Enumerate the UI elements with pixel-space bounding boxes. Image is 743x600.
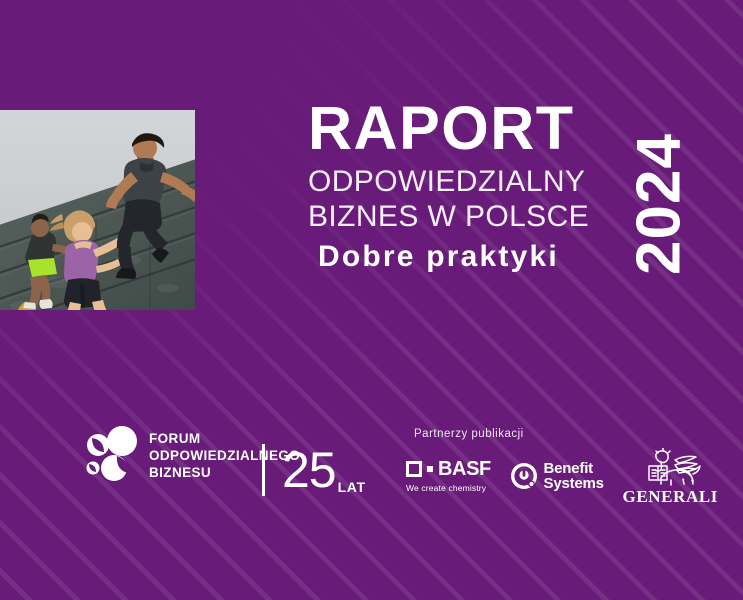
cover-photo [0, 110, 195, 310]
tagline: Dobre praktyki [318, 239, 613, 275]
year-label: 2024 [624, 133, 695, 275]
generali-winged-lion-icon [637, 448, 703, 486]
benefit-line-2: Systems [544, 476, 604, 491]
anniversary-lockup: 25 LAT [262, 444, 336, 496]
anniversary-unit: LAT [338, 480, 366, 494]
subtitle-line-2: BIZNES W POLSCE [308, 199, 613, 234]
basf-lockup: BASF [406, 459, 491, 479]
report-cover-poster: RAPORT ODPOWIEDZIALNY BIZNES W POLSCE Do… [0, 0, 743, 600]
headline-block: RAPORT ODPOWIEDZIALNY BIZNES W POLSCE Do… [308, 100, 613, 275]
basf-wordmark: BASF [438, 459, 491, 479]
generali-wordmark: GENERALI [623, 488, 719, 505]
fob-circles-icon [84, 424, 140, 486]
basf-dot-icon [427, 466, 433, 472]
anniversary-number-text: 25 [282, 442, 336, 498]
benefit-line-1: Benefit [544, 461, 604, 476]
vertical-divider [262, 444, 265, 496]
subtitle-line-1: ODPOWIEDZIALNY [308, 164, 613, 199]
partner-logos-row: BASF We create chemistry Benefit Systems [406, 448, 718, 504]
benefit-systems-circle-icon [510, 462, 538, 490]
page-title: RAPORT [308, 100, 613, 158]
partner-logo-benefit-systems: Benefit Systems [510, 461, 604, 492]
anniversary-number: 25 LAT [282, 444, 336, 496]
year-badge: 2024 [614, 104, 704, 304]
partners-label: Partnerzy publikacji [414, 428, 524, 440]
cover-photo-illustration [0, 110, 195, 310]
basf-tagline: We create chemistry [406, 484, 486, 493]
partner-logo-basf: BASF We create chemistry [406, 459, 491, 493]
benefit-systems-wordmark: Benefit Systems [544, 461, 604, 492]
partner-logo-generali: GENERALI [623, 448, 719, 505]
basf-square-icon [406, 461, 422, 477]
